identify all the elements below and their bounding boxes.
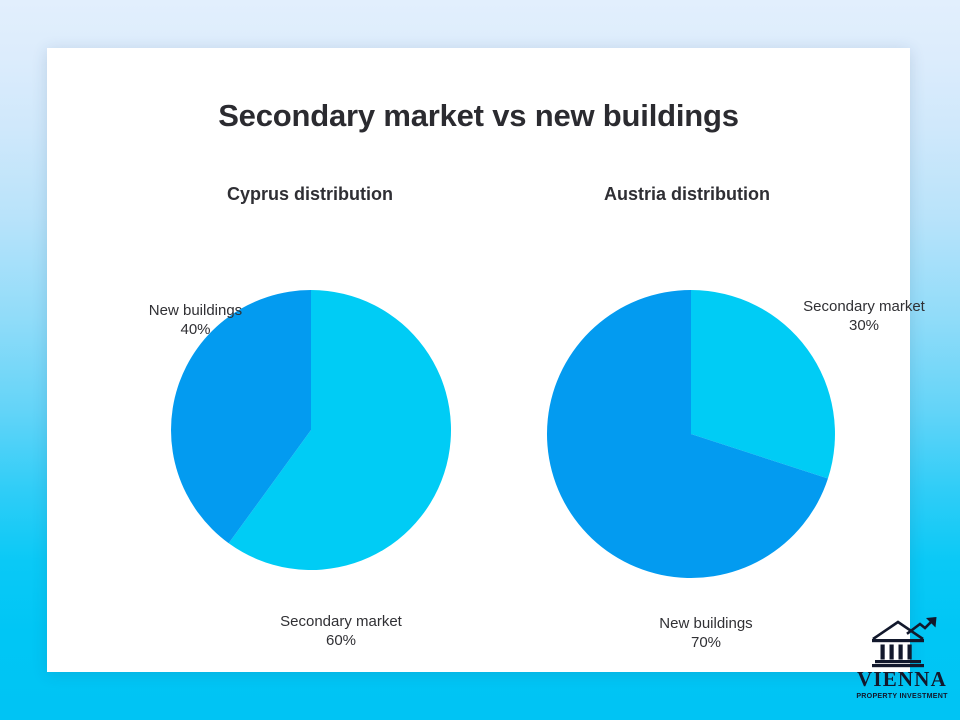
pie-label-austria-new-buildings-percent: 70% [615,634,797,653]
brand-logo: VIENNA PROPERTY INVESTMENT [851,616,953,702]
pie-label-austria-new-buildings-name: New buildings [659,615,752,632]
pie-label-cyprus-secondary-market-name: Secondary market [280,613,402,630]
chart-title-cyprus: Cyprus distribution [135,184,485,205]
slide-card: Secondary market vs new buildings Cyprus… [47,48,910,672]
pie-label-austria-new-buildings: New buildings 70% [615,615,797,653]
pie-label-austria-secondary-market-name: Secondary market [803,298,925,315]
pie-label-cyprus-new-buildings-percent: 40% [93,321,298,340]
pie-label-cyprus-secondary-market-percent: 60% [241,632,441,651]
page-title: Secondary market vs new buildings [47,98,910,134]
pie-label-austria-secondary-market-percent: 30% [765,317,960,336]
classical-building-with-growth-arrow-icon [863,616,941,668]
brand-tagline: PROPERTY INVESTMENT [851,693,953,700]
pie-label-cyprus-new-buildings-name: New buildings [149,302,242,319]
brand-wordmark: VIENNA [851,669,953,690]
pie-label-austria-secondary-market: Secondary market 30% [765,298,960,336]
pie-label-cyprus-new-buildings: New buildings 40% [93,302,298,340]
slide-background: Secondary market vs new buildings Cyprus… [0,0,960,720]
chart-title-austria: Austria distribution [512,184,862,205]
pie-label-cyprus-secondary-market: Secondary market 60% [241,613,441,651]
